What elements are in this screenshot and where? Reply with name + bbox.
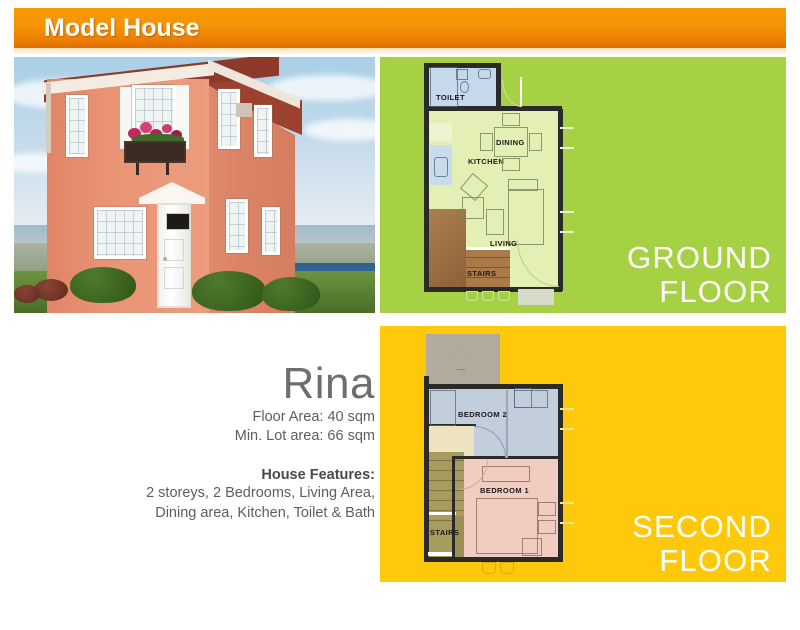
stair-tread [466,257,510,258]
page-title: Model House [44,14,200,43]
console-table [508,179,538,191]
wall-segment [424,109,429,291]
partition [506,390,508,458]
landing-opening [428,552,452,556]
window-opening [560,211,574,213]
nightstand [538,502,556,516]
wall-segment [558,384,563,562]
lavatory-icon [478,69,491,79]
window-opening [560,502,574,504]
header-banner-reflection [14,48,786,55]
dining-chair [502,158,520,171]
room-label-living: LIVING [490,239,517,248]
wall-segment [496,63,501,111]
window-lower-side-a [226,199,248,253]
bush [262,277,320,311]
window-opening [560,428,574,430]
ground-floor-panel: KITCHEN DINING LIVING STAIRS TOILET [380,57,786,313]
dining-chair [529,133,542,151]
ground-floor-caption-line1: GROUND [627,241,772,275]
wall-segment [424,376,429,562]
model-house-photo [14,57,375,313]
second-floor-caption: SECOND FLOOR [632,510,772,578]
model-name: Rina [20,360,375,408]
downspout [46,83,51,153]
dining-chair [502,113,520,126]
counter-fill [430,123,452,141]
room-label-toilet: TOILET [436,93,465,102]
features-line-2: Dining area, Kitchen, Toilet & Bath [20,503,375,523]
door-panel [164,267,184,289]
stairs-shade [428,209,466,289]
door-knob [163,257,167,261]
features-title: House Features: [20,467,375,483]
coffee-table [486,209,504,235]
air-conditioner [236,103,252,117]
window-lower-front [94,207,146,259]
bush [192,271,266,311]
nightstand [538,520,556,534]
dining-chair [480,133,493,151]
room-label-dining: DINING [496,138,525,147]
features-line-1: 2 storeys, 2 Bedrooms, Living Area, [20,483,375,503]
lot-area-spec: Min. Lot area: 66 sqm [20,427,375,446]
bed-2 [430,390,456,426]
second-floor-panel: BEDROOM 2 BEDROOM 1 STAIRS SECOND FLOOR [380,326,786,582]
window-swing [500,562,514,574]
window-opening [560,127,574,129]
door-nameplate [166,213,190,230]
red-shrub [14,285,40,303]
door-panel [164,239,184,261]
water-closet-icon [460,81,469,93]
window-swing [466,291,478,301]
second-floor-caption-line1: SECOND [632,510,772,544]
stair-tread [428,500,464,501]
floor-area-spec: Floor Area: 40 sqm [20,408,375,427]
dresser [522,538,542,556]
room-label-kitchen: KITCHEN [468,157,504,166]
ground-floor-plan: KITCHEN DINING LIVING STAIRS TOILET [422,61,632,309]
room-label-bedroom2: BEDROOM 2 [458,410,507,419]
wall-segment [500,106,562,111]
window-flower-box [124,141,186,163]
wall-segment [424,63,429,111]
window-opening [560,147,574,149]
window-swing [482,562,496,574]
closet-shelf [514,388,532,408]
door-swing [502,79,522,107]
second-floor-plan: BEDROOM 2 BEDROOM 1 STAIRS [422,330,632,578]
stair-tread [466,267,510,268]
wall-segment [424,384,562,389]
bush [70,267,136,303]
stair-tread [428,490,464,491]
model-description: Rina Floor Area: 40 sqm Min. Lot area: 6… [20,360,375,523]
stair-tread [428,510,464,511]
sofa [508,189,544,245]
wall-segment [452,456,455,560]
flower-box-bracket [166,163,169,175]
window-opening [560,522,574,524]
header-banner: Model House [14,8,786,48]
room-label-stairs: STAIRS [467,269,496,278]
armchair [462,197,484,219]
stairs-run [466,247,510,289]
ground-floor-caption: GROUND FLOOR [627,241,772,309]
blossom [162,124,172,133]
window-upper-side-a [218,89,240,149]
window-swing [482,291,494,301]
window-upper-side-b [254,105,272,157]
headboard [482,466,530,482]
room-label-stairs-2: STAIRS [430,528,459,537]
window-swing [498,291,510,301]
window-opening [560,231,574,233]
window-opening [560,408,574,410]
entry-step [518,289,554,305]
window-lower-side-b [262,207,280,255]
flower-box-bracket [136,163,139,175]
kitchen-sink-icon [434,157,448,177]
window-upper-left [66,95,88,157]
room-label-bedroom1: BEDROOM 1 [480,486,529,495]
ground-floor-caption-line2: FLOOR [627,275,772,309]
second-floor-caption-line2: FLOOR [632,544,772,578]
